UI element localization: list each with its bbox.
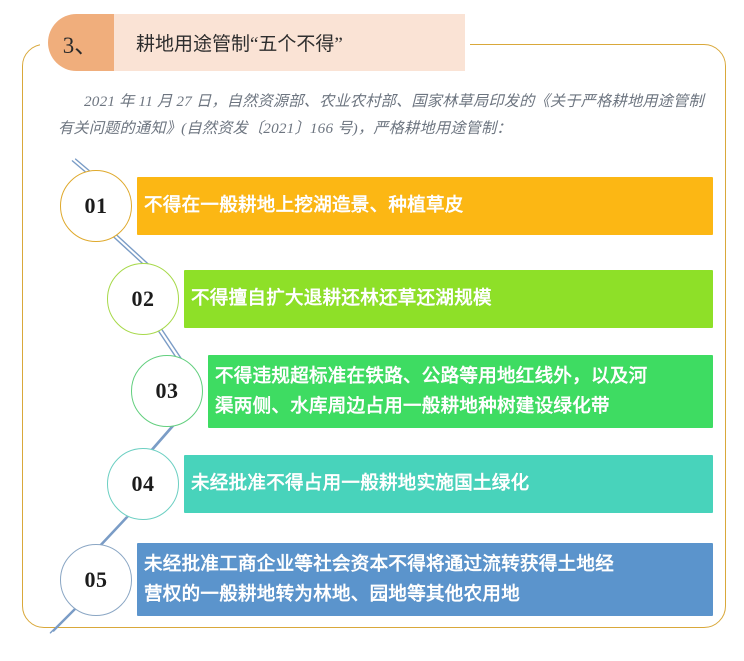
page-title: 耕地用途管制“五个不得” [136,29,343,56]
step-text-line: 渠两侧、水库周边占用一般耕地种树建设绿化带 [215,392,647,422]
step-text-line: 不得擅自扩大退耕还林还草还湖规模 [191,284,492,314]
step-number: 04 [132,471,155,497]
step-number-circle[interactable]: 03 [131,355,203,427]
step-text: 未经批准工商企业等社会资本不得将通过流转获得土地经营权的一般耕地转为林地、园地等… [137,550,614,610]
section-title-band: 耕地用途管制“五个不得” [114,14,465,71]
step-number-circle[interactable]: 05 [60,544,132,616]
step-number: 01 [85,193,108,219]
step-bar[interactable]: 不得擅自扩大退耕还林还草还湖规模 [184,270,713,328]
step-text-line: 未经批准不得占用一般耕地实施国土绿化 [191,469,529,499]
intro-paragraph: 2021 年 11 月 27 日，自然资源部、农业农村部、国家林草局印发的《关于… [58,88,704,142]
step-number-circle[interactable]: 04 [107,448,179,520]
section-header: 3、 耕地用途管制“五个不得” [48,14,465,71]
step-text-line: 不得在一般耕地上挖湖造景、种植草皮 [144,191,464,221]
step-bar[interactable]: 不得在一般耕地上挖湖造景、种植草皮 [137,177,713,235]
step-text-line: 营权的一般耕地转为林地、园地等其他农用地 [144,580,614,610]
step-text-line: 不得违规超标准在铁路、公路等用地红线外，以及河 [215,362,647,392]
step-number: 02 [132,286,155,312]
intro-line-2: 有关问题的通知》(自然资发〔2021〕166 号)，严格耕地用途管制： [58,120,512,137]
step-bar[interactable]: 未经批准不得占用一般耕地实施国土绿化 [184,455,713,513]
section-number-pill: 3、 [48,14,114,71]
step-number: 05 [85,567,108,593]
step-text: 不得擅自扩大退耕还林还草还湖规模 [184,284,492,314]
step-text-line: 未经批准工商企业等社会资本不得将通过流转获得土地经 [144,550,614,580]
step-bar[interactable]: 不得违规超标准在铁路、公路等用地红线外，以及河渠两侧、水库周边占用一般耕地种树建… [208,355,713,428]
section-number: 3、 [63,26,98,60]
step-bar[interactable]: 未经批准工商企业等社会资本不得将通过流转获得土地经营权的一般耕地转为林地、园地等… [137,543,713,616]
step-number: 03 [156,378,179,404]
intro-line-1: 2021 年 11 月 27 日，自然资源部、农业农村部、国家林草局印发的《关于… [84,93,704,110]
step-text: 不得违规超标准在铁路、公路等用地红线外，以及河渠两侧、水库周边占用一般耕地种树建… [208,362,647,422]
step-number-circle[interactable]: 02 [107,263,179,335]
step-text: 未经批准不得占用一般耕地实施国土绿化 [184,469,529,499]
step-number-circle[interactable]: 01 [60,170,132,242]
step-text: 不得在一般耕地上挖湖造景、种植草皮 [137,191,464,221]
